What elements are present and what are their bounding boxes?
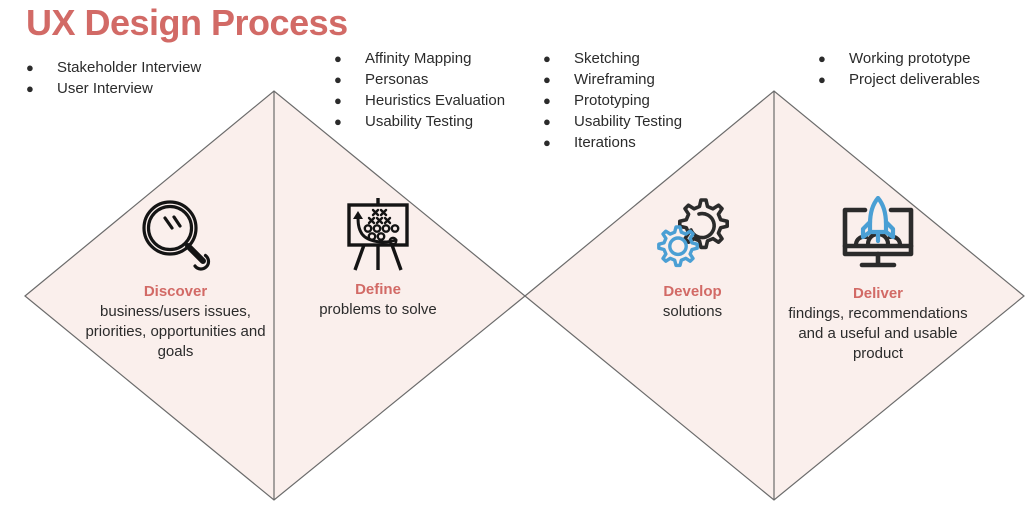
list-item: ● Working prototype (818, 48, 1018, 69)
deliver-activities-list: ● Working prototype ● Project deliverabl… (818, 48, 1018, 90)
stage-develop: Develop solutions (605, 196, 780, 322)
list-item: ● Stakeholder Interview (26, 57, 276, 78)
stage-description: solutions (605, 302, 780, 322)
stage-description: problems to solve (288, 300, 468, 320)
bullet-icon: ● (334, 90, 365, 111)
bullet-icon: ● (26, 78, 57, 99)
stage-title: Deliver (783, 284, 973, 304)
discover-activities-list: ● Stakeholder Interview ● User Interview (26, 57, 276, 99)
bullet-icon: ● (818, 69, 849, 90)
bullet-icon: ● (334, 48, 365, 69)
bullet-icon: ● (543, 48, 574, 69)
list-item: ● Project deliverables (818, 69, 1018, 90)
list-item: ● Usability Testing (543, 111, 743, 132)
list-item: ● User Interview (26, 78, 276, 99)
stage-title: Discover (78, 282, 273, 302)
list-item: ● Iterations (543, 132, 743, 153)
magnifying-glass-icon (135, 196, 217, 276)
bullet-icon: ● (543, 132, 574, 153)
stage-description: business/users issues, priorities, oppor… (78, 302, 273, 362)
rocket-monitor-icon (832, 196, 924, 278)
stage-define: Define problems to solve (288, 196, 468, 320)
define-activities-list: ● Affinity Mapping ● Personas ● Heuristi… (334, 48, 549, 132)
bullet-icon: ● (818, 48, 849, 69)
develop-activities-list: ● Sketching ● Wireframing ● Prototyping … (543, 48, 743, 153)
bullet-icon: ● (543, 90, 574, 111)
bullet-icon: ● (334, 111, 365, 132)
stage-title: Define (288, 280, 468, 300)
stage-description: findings, recommendations and a useful a… (783, 304, 973, 364)
gears-icon (649, 196, 737, 276)
list-item: ● Prototyping (543, 90, 743, 111)
bullet-icon: ● (543, 69, 574, 90)
list-item: ● Affinity Mapping (334, 48, 549, 69)
stage-discover: Discover business/users issues, prioriti… (78, 196, 273, 362)
stage-deliver: Deliver findings, recommendations and a … (783, 196, 973, 364)
list-item: ● Wireframing (543, 69, 743, 90)
bullet-icon: ● (26, 57, 57, 78)
ux-design-process-diagram: UX Design Process ● Stakeholder Intervie… (0, 0, 1033, 531)
list-item: ● Sketching (543, 48, 743, 69)
stage-title: Develop (605, 282, 780, 302)
bullet-icon: ● (334, 69, 365, 90)
bullet-icon: ● (543, 111, 574, 132)
strategy-board-icon (336, 196, 420, 274)
list-item: ● Personas (334, 69, 549, 90)
list-item: ● Usability Testing (334, 111, 549, 132)
list-item: ● Heuristics Evaluation (334, 90, 549, 111)
